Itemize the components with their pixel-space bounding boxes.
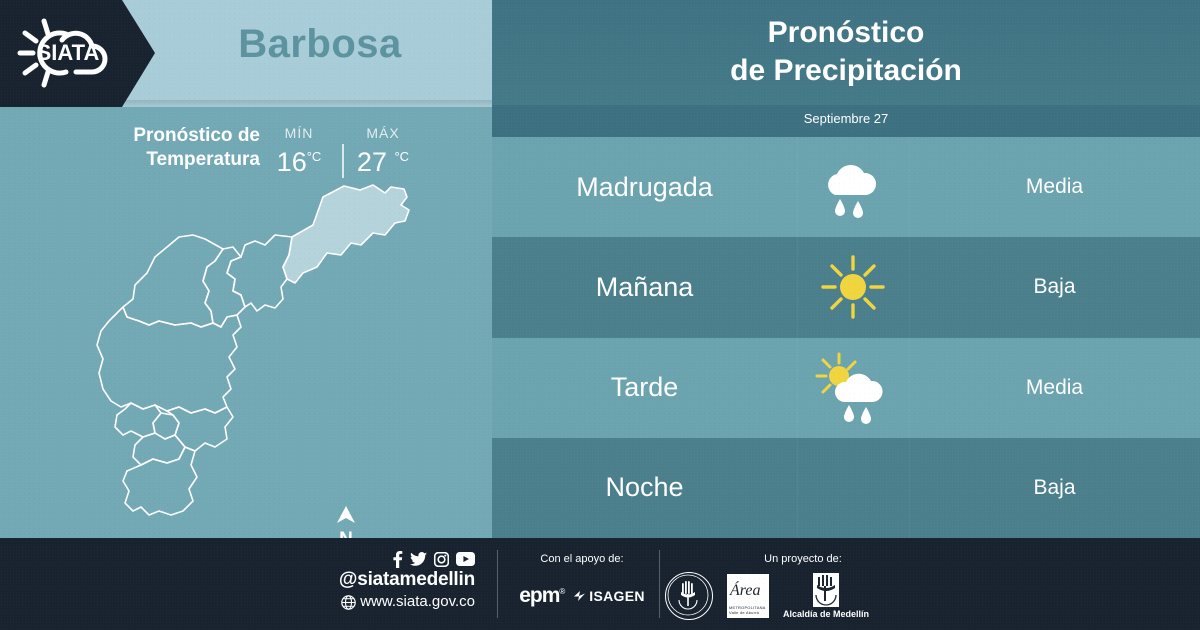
epm-logo: epm®: [519, 584, 564, 608]
website-url[interactable]: www.siata.gov.co: [360, 592, 475, 612]
temperature-block: Pronóstico de Temperatura MÍN 16°C MÁX 2…: [70, 124, 420, 180]
epm-logo-text: epm: [519, 584, 559, 607]
period-label: Noche: [492, 472, 797, 503]
right-panel: Pronóstico de Precipitación Septiembre 2…: [492, 0, 1200, 538]
forecast-row-noche: Noche Baja: [492, 438, 1200, 538]
temperature-title-line2: Temperatura: [70, 148, 260, 172]
temperature-min-value-wrap: 16°C: [268, 142, 330, 177]
instagram-icon[interactable]: [434, 552, 449, 567]
alcaldia-crest-glyph: [813, 573, 839, 607]
precipitation-header: Pronóstico de Precipitación: [492, 0, 1200, 105]
moon-cloud-rain-glyph: [814, 151, 892, 223]
siata-logo-text: SIATA: [37, 40, 100, 65]
sun-cloud-rain-glyph: [811, 350, 895, 426]
forecast-rows: Madrugada Media Mañana: [492, 137, 1200, 538]
column-separator: [797, 338, 798, 438]
area-logo-sub: METROPOLITANA Valle de Aburrá: [729, 605, 766, 615]
temperature-title: Pronóstico de Temperatura: [70, 124, 260, 172]
temperature-min-value: 16: [277, 147, 307, 177]
footer: @siatamedellin www.siata.gov.co Con el a…: [0, 538, 1200, 630]
forecast-date-band: Septiembre 27: [492, 105, 1200, 137]
probability-label: Media: [909, 175, 1200, 199]
project-caption: Un proyecto de:: [713, 552, 893, 566]
alcaldia-crest-icon: [813, 573, 839, 607]
sun-icon: [797, 251, 909, 323]
alcaldia-medellin-logo: Alcaldía de Medellín: [783, 573, 869, 619]
area-metropolitana-logo: Área METROPOLITANA Valle de Aburrá: [727, 574, 769, 618]
column-separator: [797, 137, 798, 237]
map-region-medellin: [97, 307, 241, 413]
area-logo-sub-line2: Valle de Aburrá: [729, 610, 766, 615]
footer-divider: [497, 550, 498, 618]
probability-label: Baja: [909, 476, 1200, 500]
moon-icon: [797, 457, 909, 519]
support-logos: epm® ISAGEN: [512, 584, 652, 608]
moon-cloud-rain-icon: [797, 151, 909, 223]
column-separator: [797, 438, 798, 538]
probability-label: Media: [909, 376, 1200, 400]
forecast-row-madrugada: Madrugada Media: [492, 137, 1200, 237]
period-label: Tarde: [492, 372, 797, 403]
sun-glyph: [817, 251, 889, 323]
temperature-min-unit: °C: [307, 149, 322, 164]
temperature-min: MÍN 16°C: [268, 124, 330, 177]
alcaldia-label: Alcaldía de Medellín: [783, 609, 869, 619]
isagen-logo-text: ISAGEN: [589, 588, 644, 604]
isagen-logo: ISAGEN: [574, 588, 644, 604]
column-separator: [909, 338, 910, 438]
map-region-copacabana: [203, 247, 245, 327]
universidad-seal-glyph: [666, 573, 710, 617]
map-region-barbosa: [283, 185, 409, 283]
temperature-max-label: MÁX: [352, 124, 414, 142]
sun-cloud-rain-icon: [797, 350, 909, 426]
moon-glyph: [823, 457, 883, 519]
weather-forecast-poster: Barbosa SIATA Pronóstico de Temperatura: [0, 0, 1200, 630]
isagen-mark-icon: [574, 590, 587, 603]
aburra-valley-map-svg: [55, 175, 455, 535]
column-separator: [909, 237, 910, 337]
period-label: Mañana: [492, 272, 797, 303]
temperature-divider: [342, 144, 344, 178]
footer-divider: [659, 550, 660, 618]
website-line[interactable]: www.siata.gov.co: [300, 592, 475, 612]
map-region-envigado: [167, 407, 233, 451]
temperature-max-value: 27: [357, 147, 387, 177]
sun-cloud-icon: SIATA: [14, 14, 122, 92]
temperature-max-value-wrap: 27 °C: [352, 142, 414, 177]
support-block: Con el apoyo de: epm® ISAGEN: [512, 552, 652, 608]
facebook-icon[interactable]: [392, 551, 403, 568]
precipitation-title: Pronóstico de Precipitación: [492, 14, 1200, 90]
social-block: @siatamedellin www.siata.gov.co: [300, 550, 475, 612]
probability-label: Baja: [909, 275, 1200, 299]
column-separator: [797, 237, 798, 337]
area-logo-script: Área: [730, 582, 761, 600]
column-separator: [909, 438, 910, 538]
left-panel: Barbosa SIATA Pronóstico de Temperatura: [0, 0, 492, 538]
youtube-icon[interactable]: [456, 552, 475, 566]
temperature-max-unit: °C: [394, 149, 409, 164]
temperature-min-label: MÍN: [268, 124, 330, 142]
precipitation-title-line1: Pronóstico: [492, 14, 1200, 52]
twitter-icon[interactable]: [410, 552, 427, 567]
map-region-girardota: [227, 235, 292, 311]
precipitation-title-line2: de Precipitación: [492, 52, 1200, 90]
universidad-seal: [665, 572, 713, 620]
column-separator: [909, 137, 910, 237]
period-label: Madrugada: [492, 172, 797, 203]
support-caption: Con el apoyo de:: [512, 552, 652, 566]
municipality-map: N: [55, 175, 455, 535]
globe-icon: [341, 595, 356, 610]
social-handle[interactable]: @siatamedellin: [300, 568, 475, 592]
project-block: Un proyecto de:: [665, 552, 895, 620]
social-icons: [300, 550, 475, 568]
temperature-title-line1: Pronóstico de: [70, 124, 260, 148]
epm-logo-mark: ®: [559, 587, 564, 596]
north-arrow-glyph: [333, 505, 359, 525]
temperature-max: MÁX 27 °C: [352, 124, 414, 177]
map-region-bello: [123, 235, 223, 327]
forecast-row-manana: Mañana: [492, 237, 1200, 337]
project-logos: Área METROPOLITANA Valle de Aburrá: [665, 572, 895, 620]
forecast-row-tarde: Tarde: [492, 338, 1200, 438]
forecast-date: Septiembre 27: [492, 111, 1200, 126]
temperature-values: MÍN 16°C MÁX 27 °C: [268, 124, 420, 180]
city-name: Barbosa: [160, 22, 480, 67]
